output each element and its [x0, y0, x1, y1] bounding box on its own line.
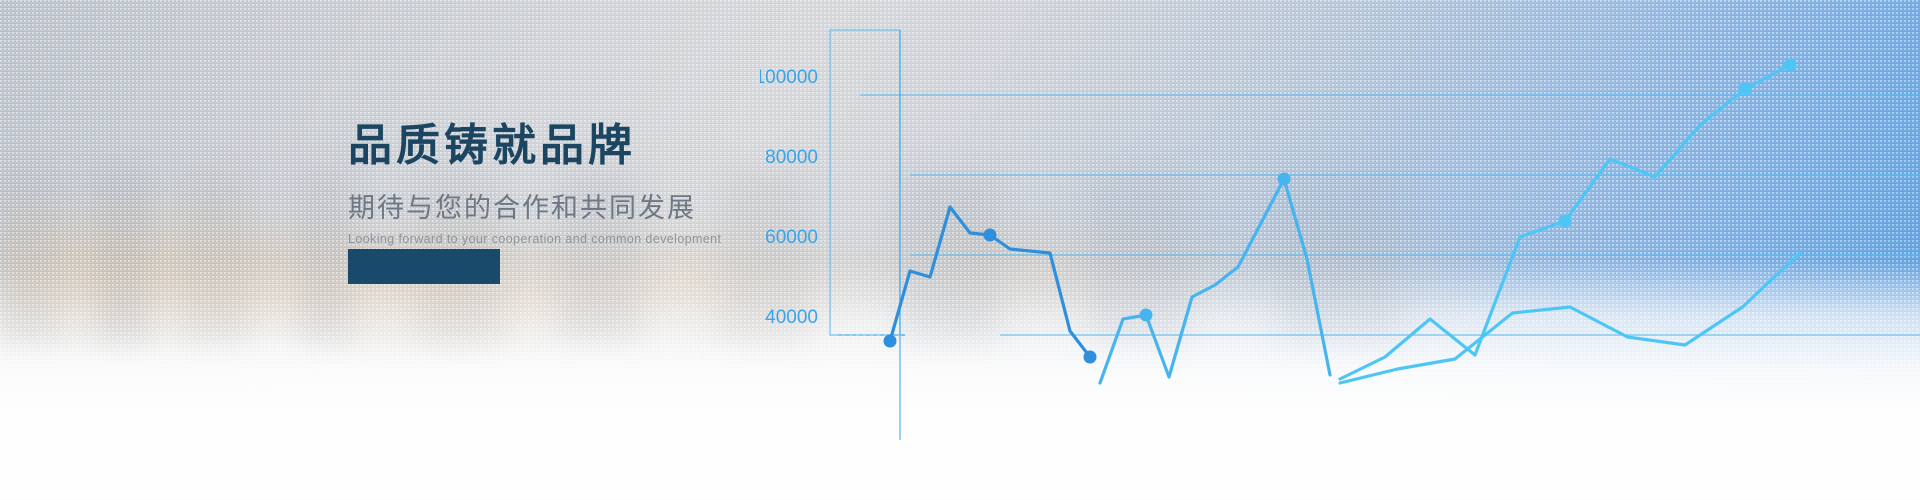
- series-point-marker: [1084, 351, 1097, 364]
- series-line: [1340, 253, 1800, 383]
- chart-series-layer: [884, 59, 1801, 384]
- series-point-marker: [1140, 309, 1153, 322]
- y-tick-label: 60000: [765, 227, 818, 248]
- cta-button[interactable]: [348, 249, 500, 284]
- series-point-marker: [884, 335, 897, 348]
- series-line: [1100, 179, 1330, 383]
- y-tick-label: 80000: [765, 147, 818, 168]
- series-point-marker: [984, 229, 997, 242]
- chart-y-tick-labels: 400006000080000100000: [760, 67, 818, 328]
- series-point-marker: [1739, 83, 1752, 96]
- series-point-marker: [1784, 59, 1797, 72]
- axis-rect: [830, 30, 900, 335]
- chart-axis-box: [830, 30, 900, 440]
- series-point-marker: [1559, 215, 1572, 228]
- hero-line-chart: 400006000080000100000: [760, 0, 1920, 500]
- hero-banner: 品质铸就品牌 期待与您的合作和共同发展 Looking forward to y…: [0, 0, 1920, 500]
- y-tick-label: 40000: [765, 307, 818, 328]
- chart-gridlines: [838, 95, 1920, 335]
- y-tick-label: 100000: [760, 67, 818, 88]
- series-point-marker: [1278, 173, 1291, 186]
- chart-svg: 400006000080000100000: [760, 0, 1920, 500]
